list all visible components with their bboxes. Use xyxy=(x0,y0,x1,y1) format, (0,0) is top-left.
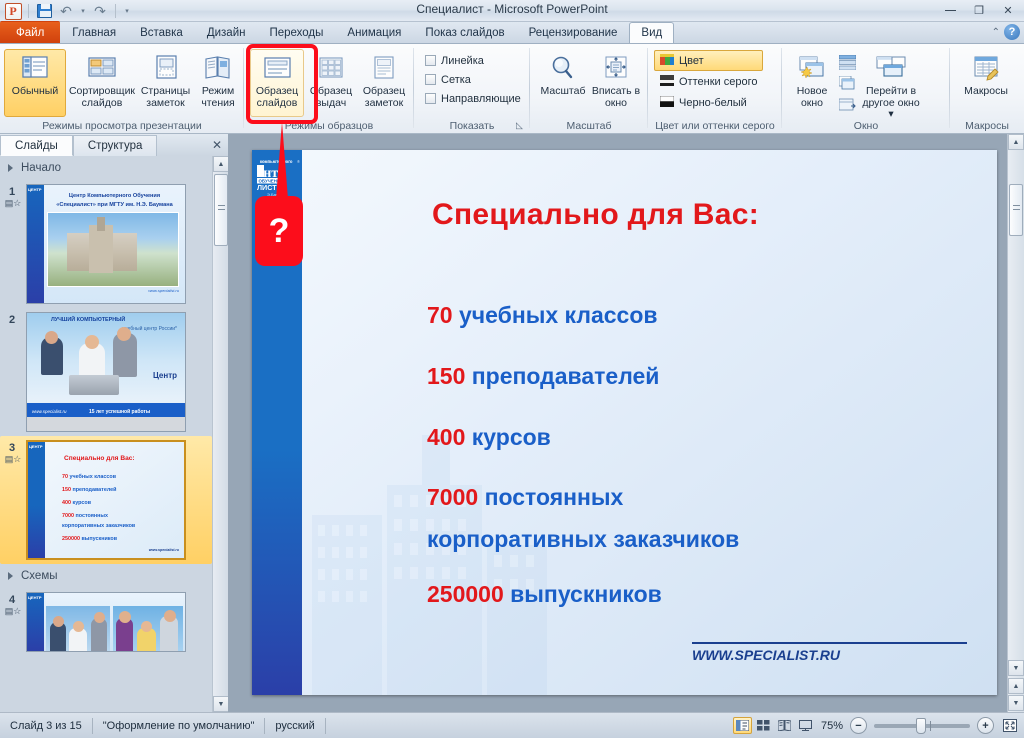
slide-scroll-up-button[interactable]: ▲ xyxy=(1008,134,1024,150)
ribbon-group-window: Новое окно Перейти в другое окно ▾ xyxy=(782,44,950,133)
annotation-marker: ? xyxy=(255,196,303,266)
zoom-out-button[interactable]: − xyxy=(850,717,867,734)
section-collapse-icon-2[interactable] xyxy=(8,572,13,580)
button-zoom[interactable]: Масштаб xyxy=(538,49,588,117)
button-zoom-label: Масштаб xyxy=(541,86,586,98)
help-icon[interactable]: ? xyxy=(1004,24,1020,40)
ribbon-group-macros-label: Макросы xyxy=(950,120,1024,132)
status-slide-indicator[interactable]: Слайд 3 из 15 xyxy=(0,717,92,735)
grayscale-swatch-icon xyxy=(660,75,674,89)
checkbox-guides[interactable]: Направляющие xyxy=(422,89,521,108)
button-normal-view-label: Обычный xyxy=(12,86,58,98)
slide-animation-icon-1: ▤☆ xyxy=(0,198,26,209)
thumbnail-row-4[interactable]: 4 ▤☆ ЦЕНТР xyxy=(0,588,212,656)
new-window-icon xyxy=(795,54,829,84)
thumbnail-1[interactable]: ЦЕНТР Центр Компьютерного Обучения «Спец… xyxy=(26,184,186,304)
button-notes-pages[interactable]: Страницы заметок xyxy=(138,49,193,117)
ribbon-tab-strip: Файл Главная Вставка Дизайн Переходы Ани… xyxy=(0,22,1024,44)
ribbon-group-color-grayscale: Цвет Оттенки серого Черно-белый Цвет или… xyxy=(648,44,782,133)
thumbnail-3-line-4: 7000 постоянных xyxy=(62,513,108,519)
button-switch-windows-label: Перейти в другое окно ▾ xyxy=(861,86,921,121)
status-slideshow-icon[interactable] xyxy=(796,717,815,734)
slide-bullet-3-number: 400 xyxy=(427,424,465,450)
zoom-slider-knob[interactable] xyxy=(916,718,926,734)
current-slide[interactable]: компьютерного ® ентр ОБУЧЕНИЯ ЛИСТ» Э.Ба… xyxy=(252,150,997,695)
tab-insert[interactable]: Вставка xyxy=(128,22,195,43)
restore-button[interactable]: ❐ xyxy=(965,1,993,20)
slide-animation-icon-3: ▤☆ xyxy=(0,454,26,465)
thumbnail-1-subtitle: «Специалист» при МГТУ им. Н.Э. Баумана xyxy=(47,202,182,208)
checkbox-guides-label: Направляющие xyxy=(441,93,521,105)
thumbnail-row-1[interactable]: 1 ▤☆ ЦЕНТР Центр Компьютерного Обучения … xyxy=(0,180,212,308)
button-new-window[interactable]: Новое окно xyxy=(790,49,834,117)
thumbnail-3-line-5: корпоративных заказчиков xyxy=(62,523,135,529)
thumbnail-row-2[interactable]: 2 ЛУЧШИЙ КОМПЬЮТЕРНЫЙ учебный центр Росс… xyxy=(0,308,212,436)
cascade-icon[interactable] xyxy=(836,74,858,93)
normal-view-icon xyxy=(18,54,52,84)
section-label-2: Схемы xyxy=(21,570,58,582)
color-swatch-icon xyxy=(660,54,674,68)
slide-footer-url: WWW.SPECIALIST.RU xyxy=(692,642,967,663)
button-black-and-white[interactable]: Черно-белый xyxy=(654,92,763,113)
thumbnail-row-3[interactable]: 3 ▤☆ ЦЕНТР Специально для Вас: 70 учебны… xyxy=(0,436,212,564)
button-grayscale-label: Оттенки серого xyxy=(679,76,757,88)
fit-slide-to-window-icon[interactable] xyxy=(1001,717,1018,734)
annotation-marker-label: ? xyxy=(255,196,303,266)
slide-bullet-5-text: корпоративных заказчиков xyxy=(427,526,739,552)
ribbon-help-group: ⌃ ? xyxy=(992,24,1020,40)
ribbon-group-color-grayscale-label: Цвет или оттенки серого xyxy=(648,120,782,132)
zoom-in-button[interactable]: + xyxy=(977,717,994,734)
section-label: Начало xyxy=(21,162,61,174)
tab-animations[interactable]: Анимация xyxy=(335,22,413,43)
thumbnail-3[interactable]: ЦЕНТР Специально для Вас: 70 учебных кла… xyxy=(26,440,186,560)
slide-animation-icon-4: ▤☆ xyxy=(0,606,26,617)
slide-bullet-4-text: постоянных xyxy=(485,484,624,510)
pane-tab-outline[interactable]: Структура xyxy=(73,135,158,156)
tab-slideshow[interactable]: Показ слайдов xyxy=(413,22,516,43)
slide-bullet-4-number: 7000 xyxy=(427,484,478,510)
tab-view[interactable]: Вид xyxy=(629,22,674,43)
checkbox-gridlines-box[interactable] xyxy=(425,74,436,85)
section-header-shemy[interactable]: Схемы xyxy=(0,564,212,588)
close-button[interactable]: ✕ xyxy=(994,1,1022,20)
slide-bullet-3[interactable]: 400 курсов xyxy=(427,424,551,451)
switch-windows-icon xyxy=(874,54,908,84)
button-reading-view-label: Режим чтения xyxy=(195,86,241,109)
section-header-nachalo[interactable]: Начало xyxy=(0,156,212,180)
ribbon-group-window-label: Окно xyxy=(782,120,950,132)
button-switch-windows[interactable]: Перейти в другое окно ▾ xyxy=(860,49,922,117)
show-dialog-launcher-icon[interactable]: ◺ xyxy=(516,120,527,131)
close-pane-icon[interactable]: ✕ xyxy=(212,138,222,152)
scroll-up-button[interactable]: ▲ xyxy=(213,156,229,172)
slide-bullet-1-number: 70 xyxy=(427,302,453,328)
checkbox-gridlines-label: Сетка xyxy=(441,74,471,86)
button-notes-master-label: Образец заметок xyxy=(359,86,409,109)
slide-scroll-down-button[interactable]: ▼ xyxy=(1008,660,1024,676)
thumbnail-3-line-6: 250000 выпускников xyxy=(62,536,117,542)
checkbox-gridlines[interactable]: Сетка xyxy=(422,70,521,89)
button-color[interactable]: Цвет xyxy=(654,50,763,71)
title-bar: P ↶ ▾ ↷ ▾ Специалист - Microsoft PowerPo… xyxy=(0,0,1024,22)
thumbnail-2-footer: www.specialist.ru xyxy=(32,409,67,414)
button-black-and-white-label: Черно-белый xyxy=(679,97,747,109)
checkbox-ruler-label: Линейка xyxy=(441,55,484,67)
status-theme-name[interactable]: "Оформление по умолчанию" xyxy=(93,717,265,735)
slide-bullet-5[interactable]: корпоративных заказчиков xyxy=(427,526,739,553)
status-normal-view-icon[interactable] xyxy=(733,717,752,734)
button-slide-sorter[interactable]: Сортировщик слайдов xyxy=(67,49,137,117)
status-language[interactable]: русский xyxy=(265,717,324,735)
move-split-icon[interactable] xyxy=(836,95,858,114)
ribbon: Обычный Сортировщик слайдов Страницы зам… xyxy=(0,44,1024,134)
slides-pane: Слайды Структура ✕ Начало 1 ▤☆ ЦЕНТР Цен… xyxy=(0,134,228,712)
button-macros[interactable]: Макросы xyxy=(955,49,1017,117)
ribbon-group-zoom-label: Масштаб xyxy=(530,120,648,132)
slide-bullet-4[interactable]: 7000 постоянных xyxy=(427,484,623,511)
button-new-window-label: Новое окно xyxy=(791,86,833,109)
button-grayscale[interactable]: Оттенки серого xyxy=(654,71,763,92)
checkbox-ruler[interactable]: Линейка xyxy=(422,51,521,70)
checkbox-guides-box[interactable] xyxy=(425,93,436,104)
slide-bullet-2-text: преподавателей xyxy=(472,363,660,389)
slide-number-4: 4 xyxy=(0,592,24,606)
collapse-ribbon-icon[interactable]: ⌃ xyxy=(992,27,1000,38)
window-controls: ❐ ✕ xyxy=(936,1,1022,20)
slide-number-3: 3 xyxy=(0,440,24,454)
fit-to-window-icon xyxy=(599,54,633,84)
notes-page-icon xyxy=(149,54,183,84)
pane-tab-slides[interactable]: Слайды xyxy=(0,135,73,156)
slide-editing-area[interactable]: компьютерного ® ентр ОБУЧЕНИЯ ЛИСТ» Э.Ба… xyxy=(228,134,1024,712)
window-title: Специалист - Microsoft PowerPoint xyxy=(0,2,1024,16)
section-collapse-icon[interactable] xyxy=(8,164,13,172)
slide-title[interactable]: Специально для Вас: xyxy=(432,198,759,232)
zoom-level-label: 75% xyxy=(821,720,843,732)
slide-bullet-2-number: 150 xyxy=(427,363,465,389)
button-normal-view[interactable]: Обычный xyxy=(4,49,66,117)
ribbon-group-presentation-views: Обычный Сортировщик слайдов Страницы зам… xyxy=(0,44,244,133)
thumbnail-3-footer: www.specialist.ru xyxy=(149,548,179,552)
button-slide-sorter-label: Сортировщик слайдов xyxy=(68,86,136,109)
thumbnail-2-badge: 15 лет успешной работы xyxy=(89,409,150,415)
slide-bullet-2[interactable]: 150 преподавателей xyxy=(427,363,659,390)
slide-area-scrollbar[interactable]: ▲ ▼ ▲ ▼ xyxy=(1007,134,1024,712)
next-slide-button[interactable]: ▼ xyxy=(1008,695,1024,711)
tab-review[interactable]: Рецензирование xyxy=(517,22,630,43)
ribbon-group-macros: Макросы Макросы xyxy=(950,44,1024,133)
thumbnail-2-title: ЛУЧШИЙ КОМПЬЮТЕРНЫЙ xyxy=(51,317,125,323)
slide-scrollbar-thumb[interactable] xyxy=(1009,184,1023,236)
button-fit-to-window-label: Вписать в окно xyxy=(591,86,641,109)
thumbnail-4[interactable]: ЦЕНТР xyxy=(26,592,186,652)
thumbnail-3-line-1: 70 учебных классов xyxy=(62,474,116,480)
button-notes-master[interactable]: Образец заметок xyxy=(358,49,410,117)
blackwhite-swatch-icon xyxy=(660,96,674,110)
reading-view-icon xyxy=(201,54,235,84)
button-color-label: Цвет xyxy=(679,55,704,67)
slides-pane-tabs: Слайды Структура ✕ xyxy=(0,134,228,156)
minimize-button[interactable] xyxy=(936,1,964,20)
thumbnail-2[interactable]: ЛУЧШИЙ КОМПЬЮТЕРНЫЙ учебный центр России… xyxy=(26,312,186,432)
slide-bullet-1-text: учебных классов xyxy=(459,302,658,328)
thumbnail-1-footer: www.specialist.ru xyxy=(148,288,179,293)
thumbnail-3-title: Специально для Вас: xyxy=(64,455,135,462)
button-notes-pages-label: Страницы заметок xyxy=(139,86,192,109)
zoom-control: 75% − + xyxy=(821,717,1024,734)
view-switcher xyxy=(733,717,821,734)
macros-icon xyxy=(969,54,1003,84)
svg-text:®: ® xyxy=(297,159,300,164)
status-slide-sorter-icon[interactable] xyxy=(754,717,773,734)
button-macros-label: Макросы xyxy=(964,86,1008,98)
ribbon-group-show: Линейка Сетка Направляющие Показать ◺ xyxy=(414,44,530,133)
scrollbar-thumb[interactable] xyxy=(214,174,228,246)
slide-number-2: 2 xyxy=(0,312,24,326)
thumbnail-3-line-3: 400 курсов xyxy=(62,500,91,506)
tab-design[interactable]: Дизайн xyxy=(195,22,258,43)
button-reading-view[interactable]: Режим чтения xyxy=(194,49,242,117)
slide-bullet-6-number: 250000 xyxy=(427,581,504,607)
thumbnail-1-title: Центр Компьютерного Обучения xyxy=(47,193,182,201)
ribbon-group-presentation-views-label: Режимы просмотра презентации xyxy=(0,120,244,132)
slide-bullet-6-text: выпускников xyxy=(510,581,662,607)
tab-home[interactable]: Главная xyxy=(60,22,128,43)
slide-bullet-3-text: курсов xyxy=(472,424,551,450)
scroll-down-button[interactable]: ▼ xyxy=(213,696,229,712)
thumbnail-3-line-2: 150 преподавателей xyxy=(62,487,117,493)
ribbon-group-zoom: Масштаб Вписать в окно Масштаб xyxy=(530,44,648,133)
previous-slide-button[interactable]: ▲ xyxy=(1008,678,1024,694)
arrange-all-icon[interactable] xyxy=(836,53,858,72)
tab-file[interactable]: Файл xyxy=(0,21,60,43)
tab-transitions[interactable]: Переходы xyxy=(257,22,335,43)
ribbon-group-show-label: Показать xyxy=(414,120,530,132)
slide-bullet-1[interactable]: 70 учебных классов xyxy=(427,302,658,329)
notes-master-icon xyxy=(367,54,401,84)
zoom-magnifier-icon xyxy=(546,54,580,84)
status-reading-view-icon[interactable] xyxy=(775,717,794,734)
slides-pane-scrollbar[interactable]: ▲ ▼ xyxy=(212,156,228,712)
slide-thumbnail-list[interactable]: Начало 1 ▤☆ ЦЕНТР Центр Компьютерного Об… xyxy=(0,156,212,712)
handout-master-icon xyxy=(314,54,348,84)
slide-sorter-icon xyxy=(85,54,119,84)
button-fit-to-window[interactable]: Вписать в окно xyxy=(590,49,642,117)
status-bar: Слайд 3 из 15 "Оформление по умолчанию" … xyxy=(0,712,1024,738)
zoom-slider-track[interactable] xyxy=(874,724,970,728)
checkbox-ruler-box[interactable] xyxy=(425,55,436,66)
slide-bullet-6[interactable]: 250000 выпускников xyxy=(427,581,662,608)
slide-number-1: 1 xyxy=(0,184,24,198)
annotation-highlight-box xyxy=(246,44,318,124)
